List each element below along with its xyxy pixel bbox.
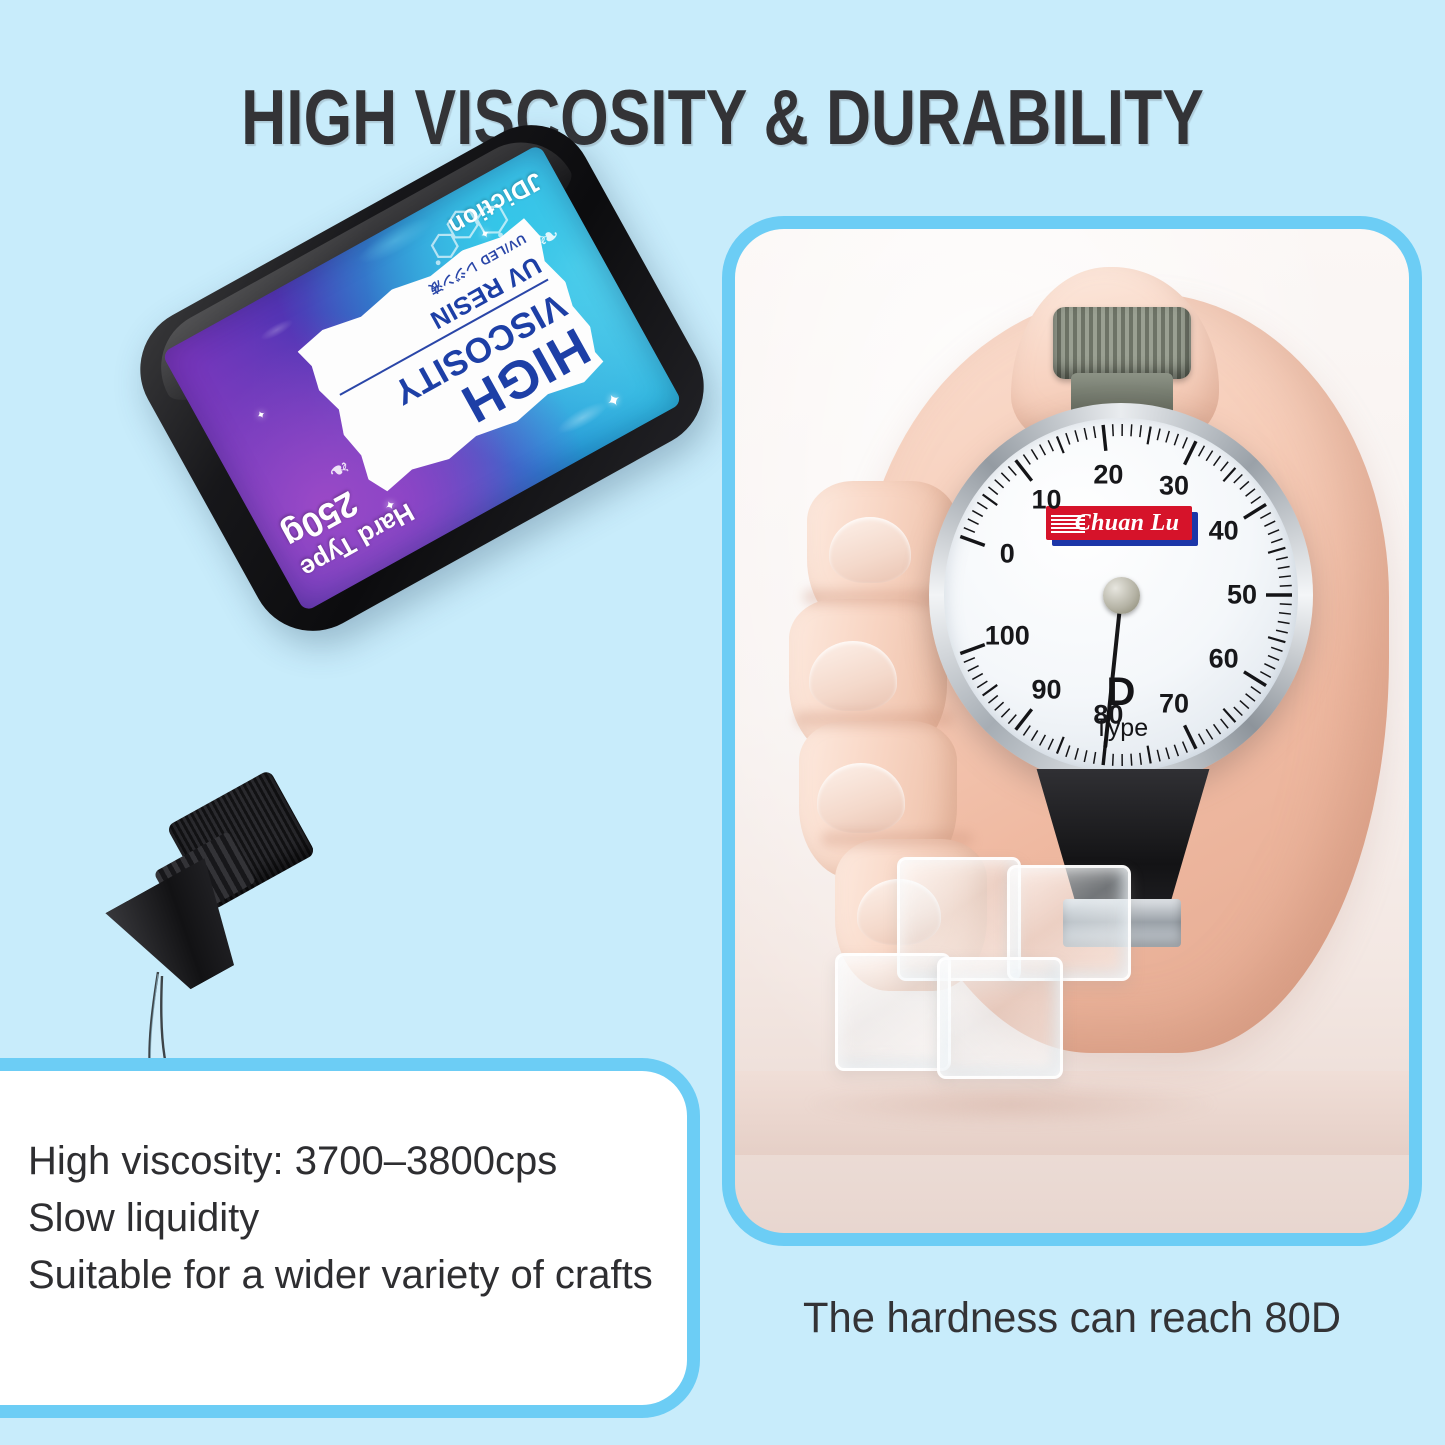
logo-stripes-icon [1051, 513, 1085, 533]
dial-tick-label: 100 [985, 621, 1030, 652]
durometer-dial-face: Chuan Lu D Type 0102030405060708090100 [944, 418, 1298, 772]
dial-tick-label: 10 [1031, 484, 1061, 515]
feature-line: Suitable for a wider variety of crafts [28, 1247, 658, 1304]
dial-tick-label: 20 [1093, 459, 1123, 490]
bottle-illustration: ✦ ✦ ✦ ✦ ❧ ❧ HIGH VISCOSITY UV RESIN UV/L… [0, 180, 720, 1080]
page-title: HIGH VISCOSITY & DURABILITY [145, 72, 1301, 163]
dial-center-hub [1103, 577, 1140, 614]
durometer-knurled-knob [1053, 307, 1191, 379]
dial-tick-label: 90 [1031, 675, 1061, 706]
dial-tick-label: 0 [1000, 538, 1015, 569]
durometer-bezel-ring: Chuan Lu D Type 0102030405060708090100 [929, 403, 1313, 787]
dial-tick-label: 60 [1209, 644, 1239, 675]
features-info-card: High viscosity: 3700–3800cps Slow liquid… [0, 1058, 700, 1418]
dial-tick-label: 30 [1159, 471, 1189, 502]
product-feature-page: HIGH VISCOSITY & DURABILITY ✦ ✦ ✦ ✦ ❧ ❧ … [0, 0, 1445, 1445]
feature-line: High viscosity: 3700–3800cps [28, 1133, 658, 1190]
resin-cube [937, 957, 1063, 1079]
dial-tick-label: 40 [1209, 515, 1239, 546]
logo-red-box: Chuan Lu [1046, 506, 1192, 540]
cured-resin-sample-blocks [835, 857, 1135, 1087]
features-list: High viscosity: 3700–3800cps Slow liquid… [28, 1133, 658, 1303]
fingernail [829, 517, 911, 583]
dial-tick-label: 80 [1093, 700, 1123, 731]
cube-contact-shadow [801, 1081, 1221, 1127]
dial-tick-label: 50 [1227, 580, 1257, 611]
durometer-brand-logo: Chuan Lu [1046, 506, 1196, 544]
feature-line: Slow liquidity [28, 1190, 658, 1247]
photo-caption: The hardness can reach 80D [733, 1294, 1412, 1343]
dial-tick-label: 70 [1159, 688, 1189, 719]
durometer-photo-panel: Chuan Lu D Type 0102030405060708090100 [722, 216, 1422, 1246]
resin-cube [835, 953, 951, 1071]
resin-bottle: ✦ ✦ ✦ ✦ ❧ ❧ HIGH VISCOSITY UV RESIN UV/L… [118, 103, 726, 653]
